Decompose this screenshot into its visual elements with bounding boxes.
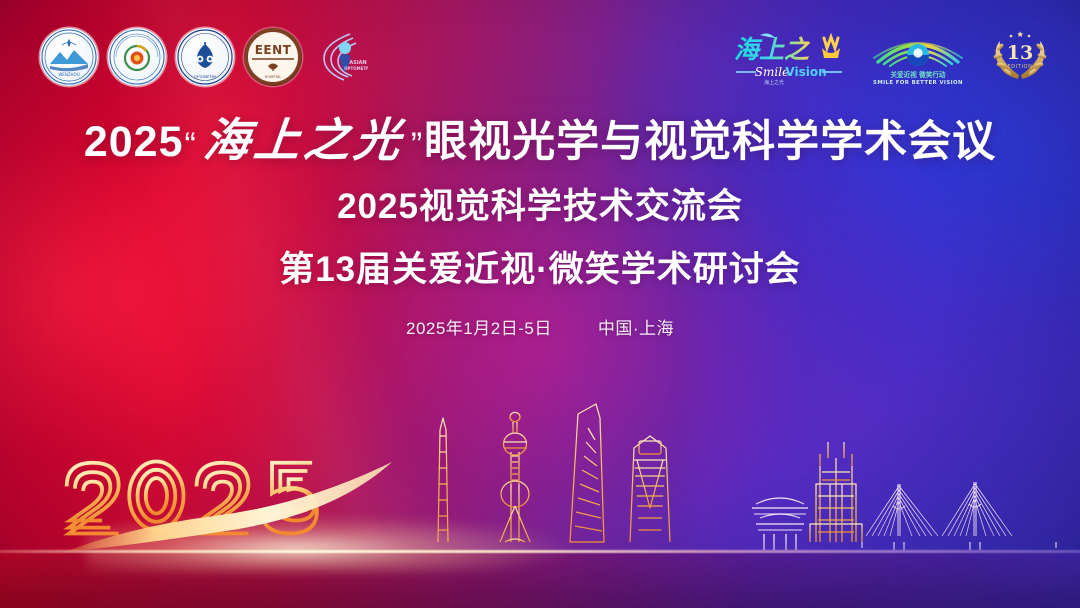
svg-text:海上之: 海上之 <box>734 35 811 64</box>
svg-text:13: 13 <box>1007 42 1033 64</box>
subtitle-line-2: 第13届关爱近视·微笑学术研讨会 <box>0 241 1080 292</box>
svg-text:EDITION: EDITION <box>1008 64 1033 70</box>
page-title: 2025 “ 海上之光 ” 眼视光学与视觉科学学术会议 <box>0 118 1080 164</box>
smile-for-better-vision-logo: 关爱近视 微笑行动 SMILE FOR BETTER VISION <box>866 28 970 86</box>
event-date: 2025年1月2日-5日 <box>406 314 552 339</box>
asian-optometry-seal: ASIAN OPTOMETRY <box>312 28 370 86</box>
svg-text:EENT: EENT <box>255 43 292 57</box>
svg-text:海上之光: 海上之光 <box>764 79 784 86</box>
title-year-prefix: 2025 <box>84 121 184 164</box>
event-location: 中国·上海 <box>598 314 674 339</box>
thirteenth-edition-laurel-badge: 13 EDITION <box>988 27 1052 87</box>
title-brush-name: 海上之光 <box>195 118 412 164</box>
title-main-tail: 眼视光学与视觉科学学术会议 <box>424 121 996 164</box>
event-meta-row: 2025年1月2日-5日 中国·上海 <box>0 314 1080 339</box>
conference-poster: WENZHOU <box>0 0 1080 608</box>
eye-hospital-seal <box>108 28 166 86</box>
svg-text:Smile: Smile <box>755 65 789 79</box>
brand-logo-row: 海上之 Smile Vision 海上之光 <box>730 26 1052 88</box>
title-block: 2025 “ 海上之光 ” 眼视光学与视觉科学学术会议 2025视觉科学技术交流… <box>0 118 1080 339</box>
svg-text:SMILE FOR BETTER VISION: SMILE FOR BETTER VISION <box>873 80 963 86</box>
svg-text:OPTOMETRY: OPTOMETRY <box>194 75 217 79</box>
wenzhou-medical-university-seal: WENZHOU <box>40 28 98 86</box>
eent-hospital-seal: EENT HOSPITAL <box>244 28 302 86</box>
organizer-logo-row: WENZHOU <box>40 28 370 86</box>
svg-text:HOSPITAL: HOSPITAL <box>265 75 282 79</box>
svg-text:关爱近视 微笑行动: 关爱近视 微笑行动 <box>890 70 945 79</box>
svg-text:Vision: Vision <box>785 65 826 79</box>
svg-text:OPTOMETRY: OPTOMETRY <box>344 66 370 71</box>
smile-vision-logo: 海上之 Smile Vision 海上之光 <box>730 26 848 88</box>
year-mark-2025 <box>62 440 402 560</box>
title-quote-close: ” <box>410 128 424 162</box>
ophthalmology-institute-seal: OPTOMETRY <box>176 28 234 86</box>
svg-text:WENZHOU: WENZHOU <box>58 72 79 77</box>
subtitle-line-1: 2025视觉科学技术交流会 <box>0 178 1080 229</box>
